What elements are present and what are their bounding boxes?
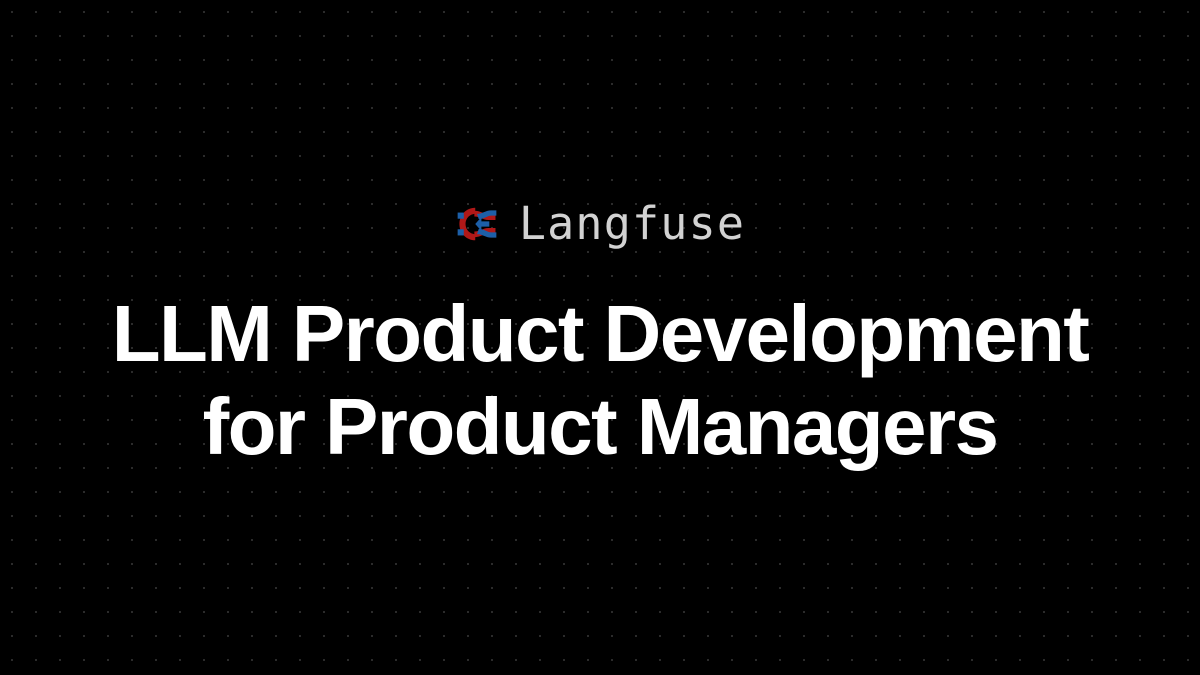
card-content: Langfuse LLM Product Development for Pro… bbox=[0, 0, 1200, 675]
langfuse-logo-icon bbox=[455, 202, 499, 246]
brand-name: Langfuse bbox=[519, 201, 745, 246]
og-card-canvas: Langfuse LLM Product Development for Pro… bbox=[0, 0, 1200, 675]
page-title-line-1: LLM Product Development bbox=[112, 288, 1089, 381]
page-title: LLM Product Development for Product Mana… bbox=[52, 288, 1149, 474]
page-title-line-2: for Product Managers bbox=[112, 381, 1089, 474]
brand-lockup: Langfuse bbox=[455, 201, 745, 246]
